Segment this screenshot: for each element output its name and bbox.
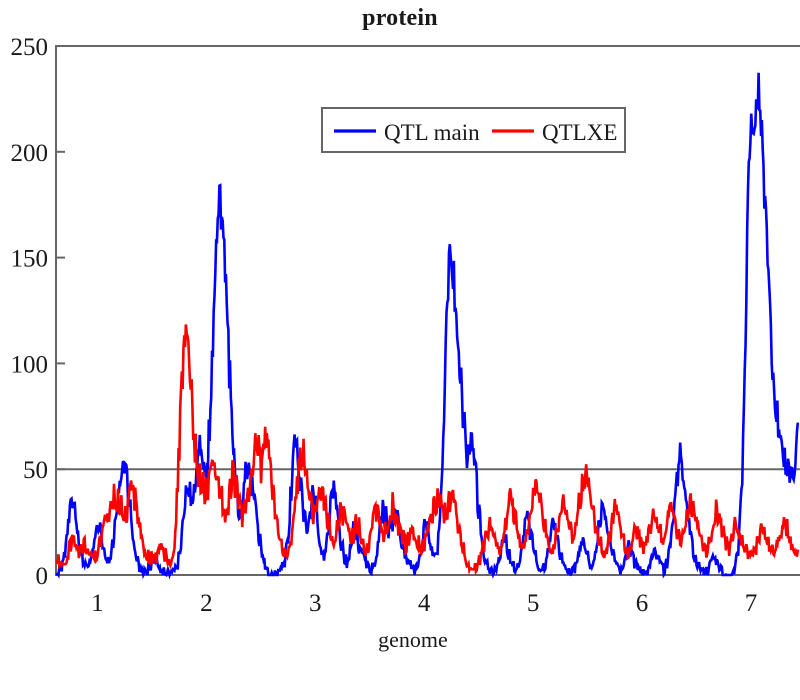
x-tick-label: 1 bbox=[91, 590, 104, 617]
y-tick-label: 200 bbox=[11, 140, 49, 167]
x-tick-label: 7 bbox=[745, 590, 758, 617]
y-tick-label: 250 bbox=[11, 34, 49, 61]
chart-page: protein 0501001502002501234567 QTL mainQ… bbox=[0, 0, 800, 700]
protein-qtl-line-chart: 0501001502002501234567 QTL mainQTLXE gen… bbox=[0, 0, 800, 700]
x-tick-label: 3 bbox=[309, 590, 322, 617]
chart-legend[interactable]: QTL mainQTLXE bbox=[322, 108, 625, 152]
x-tick-label: 2 bbox=[200, 590, 213, 617]
axis-titles: genome bbox=[378, 627, 448, 652]
series-line-qtlxe bbox=[56, 324, 798, 571]
y-tick-label: 0 bbox=[36, 563, 49, 590]
y-tick-label: 50 bbox=[23, 457, 48, 484]
legend-label-qtl-main[interactable]: QTL main bbox=[384, 120, 480, 145]
legend-label-qtlxe[interactable]: QTLXE bbox=[542, 120, 617, 145]
y-tick-label: 150 bbox=[11, 246, 49, 273]
x-tick-label: 4 bbox=[418, 590, 431, 617]
y-tick-label: 100 bbox=[11, 351, 49, 378]
x-tick-label: 6 bbox=[636, 590, 649, 617]
x-axis-title: genome bbox=[378, 627, 448, 652]
x-tick-label: 5 bbox=[527, 590, 540, 617]
